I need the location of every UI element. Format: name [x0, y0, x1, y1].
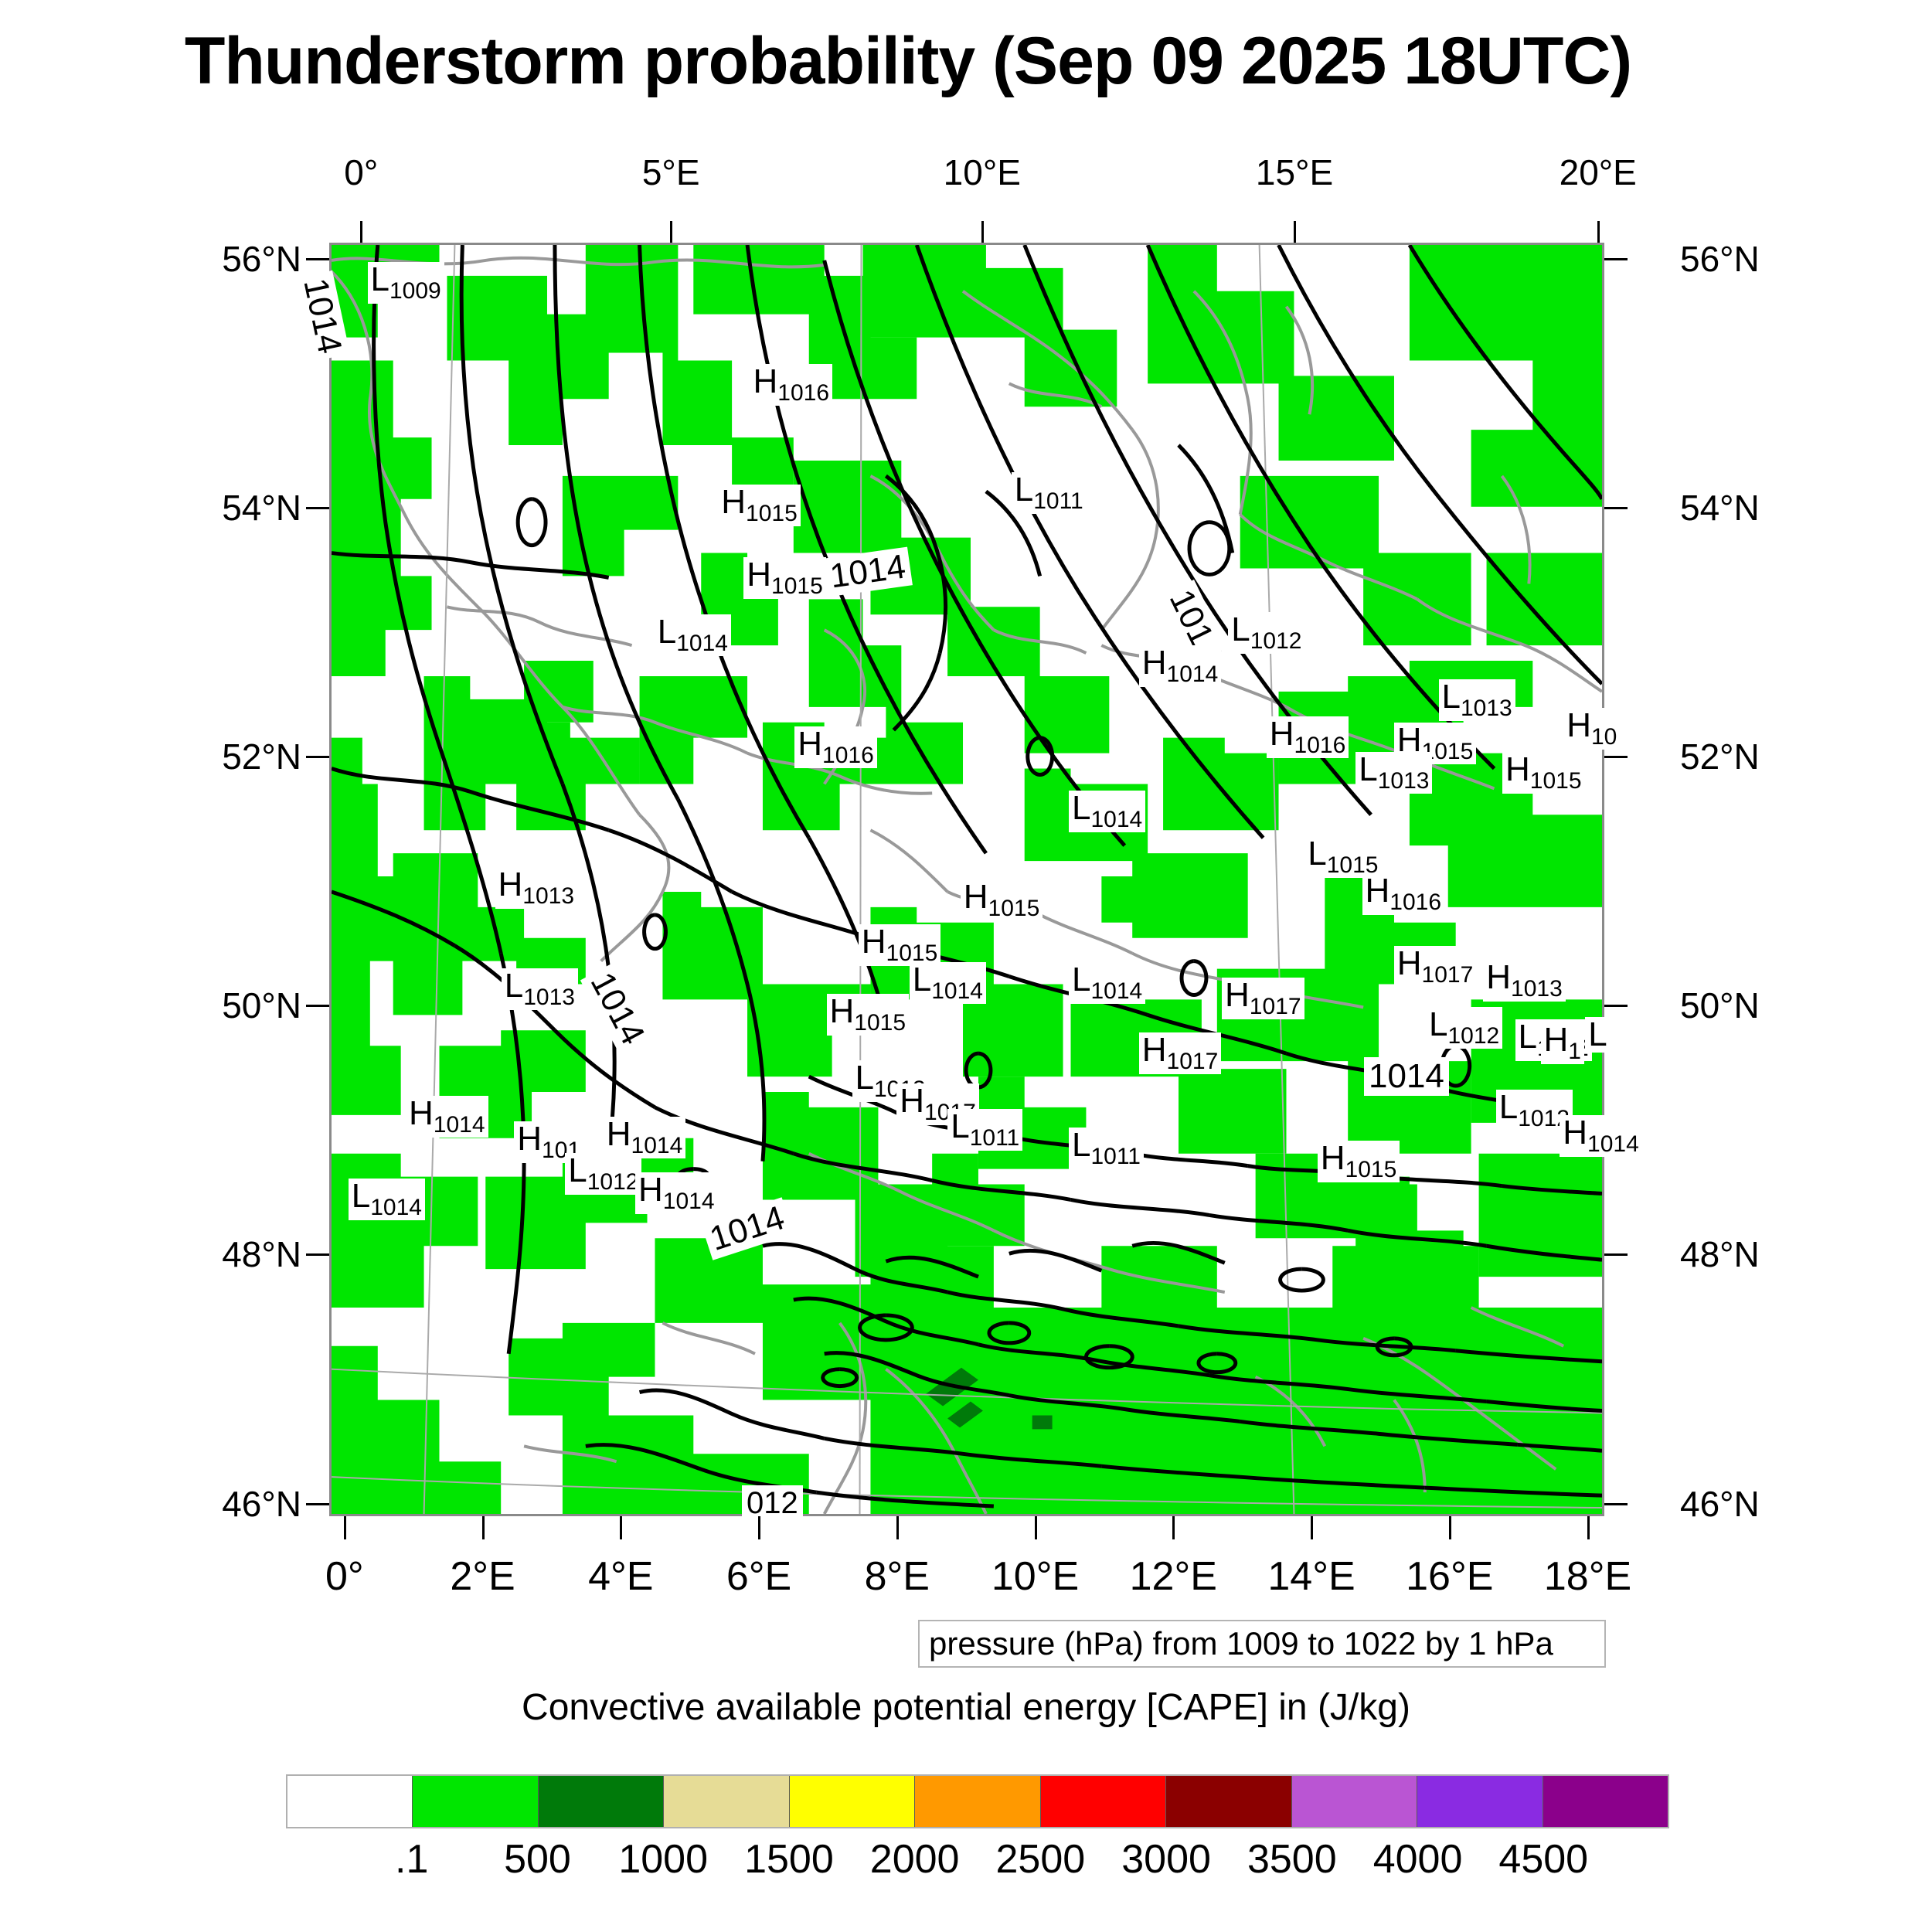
pressure-marker-l-24: L1014: [1069, 962, 1145, 1004]
top-axis-label-1: 5°E: [642, 151, 700, 193]
pressure-marker-l-14: L1014: [1069, 791, 1145, 832]
left-axis-label-5: 46°N: [162, 1483, 301, 1525]
right-tickmark-0: [1604, 258, 1628, 260]
bottom-tickmark-3: [758, 1516, 760, 1539]
colorbar-swatch-9[interactable]: [1417, 1776, 1542, 1827]
pressure-marker-type: H: [753, 362, 778, 400]
pressure-marker-l-27: L1012: [1426, 1007, 1502, 1049]
pressure-marker-l-41: L1014: [349, 1179, 425, 1220]
right-tickmark-4: [1604, 1253, 1628, 1256]
pressure-marker-type: H: [1505, 750, 1530, 788]
pressure-marker-value: 1015: [1345, 1157, 1397, 1182]
left-tickmark-4: [306, 1253, 329, 1256]
pressure-marker-type: L: [1442, 678, 1461, 716]
pressure-marker-type: H: [498, 866, 523, 903]
right-axis-label-5: 46°N: [1680, 1483, 1760, 1525]
bottom-tickmark-4: [896, 1516, 899, 1539]
pressure-marker-type: H: [517, 1120, 542, 1158]
pressure-marker-type: H: [1270, 715, 1294, 753]
pressure-marker-type: H: [1321, 1139, 1345, 1177]
pressure-marker-h-26: H1015: [827, 994, 910, 1036]
pressure-marker-value: 1012: [587, 1169, 639, 1195]
left-axis-label-0: 56°N: [162, 238, 301, 280]
pressure-marker-value: 1017: [1250, 994, 1301, 1019]
pressure-marker-h-10: H1016: [794, 726, 877, 768]
pressure-caption: pressure (hPa) from 1009 to 1022 by 1 hP…: [918, 1620, 1606, 1668]
right-tickmark-1: [1604, 507, 1628, 509]
pressure-marker-l-23: L1014: [910, 962, 986, 1004]
bottom-tickmark-9: [1587, 1516, 1590, 1539]
bottom-tickmark-8: [1449, 1516, 1451, 1539]
pressure-marker-type: H: [638, 1171, 663, 1209]
pressure-marker-type: L: [951, 1107, 969, 1145]
bottom-axis-label-6: 12°E: [1130, 1553, 1217, 1600]
colorbar-swatch-3[interactable]: [663, 1776, 788, 1827]
pressure-marker-value: 1016: [822, 743, 874, 768]
bottom-axis-label-2: 4°E: [588, 1553, 653, 1600]
cape-caption: Convective available potential energy [C…: [0, 1686, 1932, 1729]
pressure-marker-value: 1014: [931, 978, 983, 1004]
pressure-marker-type: L: [371, 260, 389, 298]
pressure-marker-h-13: H1015: [1502, 752, 1585, 794]
pressure-marker-type: L: [1072, 1126, 1090, 1164]
pressure-marker-value: 1009: [389, 278, 441, 304]
left-tickmark-2: [306, 756, 329, 758]
pressure-marker-type: L: [1072, 961, 1090, 998]
top-tickmark-3: [1294, 221, 1296, 243]
colorbar-tick-label-5: 2500: [996, 1836, 1086, 1883]
pressure-marker-l-32: L1011: [947, 1109, 1022, 1151]
pressure-marker-type: H: [607, 1115, 631, 1153]
pressure-marker-value: 1016: [777, 380, 829, 406]
cape-colorbar-ticks: .150010001500200025003000350040004500: [286, 1836, 1669, 1890]
pressure-marker-l-33: L1011: [1069, 1128, 1144, 1169]
pressure-marker-type: H: [1366, 872, 1390, 910]
colorbar-swatch-7[interactable]: [1165, 1776, 1291, 1827]
pressure-marker-value: 1012: [1250, 628, 1302, 654]
bottom-axis-label-5: 10°E: [992, 1553, 1079, 1600]
pressure-marker-h-18: H1015: [961, 879, 1043, 921]
pressure-marker-edge-0: H10: [1563, 708, 1620, 750]
pressure-marker-type: H: [1563, 1114, 1587, 1151]
pressure-marker-type: H: [721, 483, 746, 521]
pressure-marker-h-2: H1015: [718, 485, 801, 526]
pressure-marker-type: H: [830, 992, 855, 1030]
pressure-marker-type: L: [352, 1177, 370, 1215]
bottom-axis-label-4: 8°E: [865, 1553, 930, 1600]
pressure-marker-type: L: [855, 1059, 874, 1097]
pressure-marker-value: 1014: [434, 1112, 485, 1138]
pressure-marker-value: 1014: [1587, 1131, 1639, 1157]
pressure-marker-value: 1015: [771, 573, 823, 599]
colorbar-swatch-6[interactable]: [1040, 1776, 1165, 1827]
pressure-marker-l-40: L1012: [565, 1153, 641, 1195]
pressure-marker-type: L: [1499, 1088, 1518, 1126]
bottom-tickmark-7: [1311, 1516, 1313, 1539]
pressure-marker-edge-1: H1: [1541, 1022, 1584, 1064]
left-axis-label-1: 54°N: [162, 487, 301, 529]
thunderstorm-probability-chart: Thunderstorm probability (Sep 09 2025 18…: [0, 0, 1932, 1932]
colorbar-tick-label-1: 500: [504, 1836, 571, 1883]
right-axis-label-3: 50°N: [1680, 985, 1760, 1026]
pressure-marker-type: L: [1231, 611, 1250, 648]
left-axis-label-3: 50°N: [162, 985, 301, 1026]
pressure-marker-l-3: L1011: [1012, 472, 1087, 514]
pressure-marker-type: L: [1072, 789, 1090, 827]
left-tickmark-0: [306, 258, 329, 260]
pressure-marker-value: 1014: [1090, 978, 1142, 1004]
pressure-marker-l-0: L1009: [368, 262, 444, 304]
pressure-marker-l-6: L1012: [1228, 612, 1304, 654]
bottom-tickmark-6: [1172, 1516, 1175, 1539]
pressure-marker-type: L: [1308, 835, 1326, 872]
pressure-marker-type: L: [658, 613, 676, 651]
right-axis-label-4: 48°N: [1680, 1233, 1760, 1275]
pressure-marker-h-19: H1015: [859, 924, 941, 966]
pressure-marker-h-20: H1017: [1394, 946, 1477, 988]
pressure-marker-value: 1012: [1447, 1023, 1499, 1049]
top-tickmark-4: [1597, 221, 1600, 243]
pressure-marker-type: H: [409, 1094, 434, 1132]
pressure-marker-h-29: H1017: [1139, 1032, 1222, 1074]
pressure-marker-type: L: [913, 961, 931, 998]
colorbar-tick-label-7: 3500: [1247, 1836, 1337, 1883]
colorbar-swatch-8[interactable]: [1291, 1776, 1417, 1827]
contour-label-1014-se: 1014: [1364, 1057, 1449, 1096]
pressure-marker-value: 1014: [663, 1189, 715, 1214]
pressure-marker-type: L: [1015, 471, 1033, 509]
pressure-marker-type: H: [1397, 944, 1422, 982]
pressure-marker-h-15: H1013: [495, 867, 578, 909]
bottom-axis-label-1: 2°E: [450, 1553, 515, 1600]
pressure-marker-value: 1013: [523, 985, 575, 1010]
pressure-marker-type: H: [798, 725, 822, 763]
pressure-marker-edge-2: L: [1585, 1017, 1610, 1053]
pressure-marker-value: 1016: [1389, 889, 1441, 915]
right-tickmark-3: [1604, 1005, 1628, 1007]
right-axis-label-1: 54°N: [1680, 487, 1760, 529]
pressure-marker-l-8: L1013: [1439, 679, 1515, 721]
bottom-tickmark-1: [482, 1516, 485, 1539]
pressure-marker-h-21: H1013: [1483, 960, 1566, 1002]
pressure-marker-type: H: [1486, 958, 1511, 996]
bottom-axis-label-7: 14°E: [1267, 1553, 1355, 1600]
bottom-tickmark-0: [344, 1516, 346, 1539]
pressure-marker-l-5: L1014: [655, 614, 731, 656]
pressure-marker-value: 1011: [1090, 1144, 1141, 1169]
top-axis-label-3: 15°E: [1256, 151, 1333, 193]
right-tickmark-2: [1604, 756, 1628, 758]
right-axis-label-2: 52°N: [1680, 736, 1760, 777]
pressure-marker-value: 1013: [1511, 976, 1563, 1002]
pressure-marker-type: L: [1588, 1017, 1607, 1053]
pressure-marker-value: 1015: [988, 896, 1040, 921]
colorbar-swatch-5[interactable]: [914, 1776, 1039, 1827]
colorbar-tick-label-4: 2000: [870, 1836, 960, 1883]
pressure-marker-h-1: H1016: [750, 364, 833, 406]
pressure-marker-type: H: [1142, 1031, 1167, 1069]
colorbar-swatch-4[interactable]: [789, 1776, 914, 1827]
pressure-marker-h-37: H1014: [406, 1096, 488, 1138]
pressure-marker-type: H: [964, 878, 988, 916]
bottom-axis-label-3: 6°E: [726, 1553, 791, 1600]
colorbar-swatch-10[interactable]: [1543, 1776, 1668, 1827]
pressure-marker-h-39: H1014: [604, 1117, 686, 1158]
left-tickmark-1: [306, 507, 329, 509]
top-tickmark-2: [981, 221, 984, 243]
pressure-marker-value: 1013: [522, 883, 574, 909]
pressure-marker-type: H: [1225, 976, 1250, 1014]
pressure-marker-value: 1014: [1090, 807, 1142, 832]
pressure-marker-h-11: H1016: [1267, 716, 1349, 758]
pressure-marker-value: 1014: [370, 1195, 422, 1220]
pressure-marker-type: H: [1544, 1022, 1569, 1059]
top-tickmark-1: [670, 221, 672, 243]
pressure-marker-value: 1014: [1167, 662, 1219, 687]
pressure-marker-type: H: [1566, 708, 1591, 744]
pressure-marker-value: 1017: [1422, 962, 1474, 988]
top-axis-label-4: 20°E: [1560, 151, 1637, 193]
pressure-marker-value: 1015: [1530, 768, 1582, 794]
left-tickmark-5: [306, 1503, 329, 1505]
top-axis-label-0: 0°: [344, 151, 378, 193]
pressure-marker-value: 1016: [1294, 733, 1346, 758]
pressure-marker-value: 1015: [854, 1010, 906, 1036]
pressure-marker-type: L: [1519, 1018, 1537, 1056]
pressure-marker-type: L: [505, 967, 523, 1005]
left-axis-label-2: 52°N: [162, 736, 301, 777]
pressure-marker-type: L: [1359, 750, 1377, 788]
pressure-marker-l-12: L1013: [1355, 752, 1432, 794]
page-title: Thunderstorm probability (Sep 09 2025 18…: [0, 23, 1816, 100]
pressure-marker-type: H: [862, 923, 886, 961]
pressure-marker-value: 10: [1591, 724, 1617, 750]
bottom-axis-label-0: 0°: [325, 1553, 364, 1600]
colorbar-tick-label-2: 1000: [618, 1836, 708, 1883]
colorbar-swatch-1[interactable]: [412, 1776, 537, 1827]
colorbar-tick-label-3: 1500: [744, 1836, 834, 1883]
pressure-marker-h-42: H1014: [635, 1172, 718, 1214]
pressure-marker-value: 1011: [1033, 488, 1083, 514]
cape-colorbar[interactable]: [286, 1774, 1669, 1828]
bottom-axis-label-8: 16°E: [1406, 1553, 1493, 1600]
pressure-marker-type: L: [1429, 1005, 1447, 1043]
pressure-marker-h-35: H1014: [1560, 1115, 1642, 1157]
pressure-marker-h-7: H1014: [1139, 645, 1222, 687]
bottom-tickmark-5: [1035, 1516, 1037, 1539]
bottom-axis-label-9: 18°E: [1544, 1553, 1631, 1600]
pressure-marker-value: 1014: [676, 631, 728, 656]
colorbar-tick-label-9: 4500: [1498, 1836, 1588, 1883]
contour-label-fragment-012: 012: [742, 1485, 803, 1521]
pressure-marker-value: 1013: [1378, 768, 1430, 794]
top-axis-label-2: 10°E: [944, 151, 1021, 193]
left-axis-label-4: 48°N: [162, 1233, 301, 1275]
pressure-marker-h-4: H1015: [743, 557, 826, 599]
pressure-marker-value: 1015: [746, 501, 798, 526]
pressure-marker-h-17: H1016: [1362, 873, 1445, 915]
pressure-marker-h-25: H1017: [1222, 978, 1304, 1019]
bottom-tickmark-2: [620, 1516, 622, 1539]
pressure-marker-value: 1017: [1167, 1049, 1219, 1074]
pressure-marker-value: 1013: [1461, 696, 1512, 721]
colorbar-swatch-0[interactable]: [287, 1776, 412, 1827]
left-tickmark-3: [306, 1005, 329, 1007]
right-tickmark-5: [1604, 1503, 1628, 1505]
pressure-marker-l-22: L1013: [502, 968, 578, 1010]
colorbar-tick-label-6: 3000: [1121, 1836, 1211, 1883]
right-axis-label-0: 56°N: [1680, 238, 1760, 280]
pressure-marker-value: 1: [1568, 1039, 1581, 1064]
colorbar-tick-label-8: 4000: [1373, 1836, 1463, 1883]
pressure-marker-value: 1011: [970, 1125, 1020, 1151]
top-tickmark-0: [360, 221, 362, 243]
pressure-marker-type: H: [747, 556, 771, 594]
colorbar-tick-label-0: .1: [395, 1836, 428, 1883]
pressure-marker-type: L: [568, 1151, 587, 1189]
pressure-marker-h-36: H1015: [1318, 1141, 1400, 1182]
colorbar-swatch-2[interactable]: [538, 1776, 663, 1827]
pressure-marker-type: H: [900, 1082, 924, 1120]
pressure-marker-type: H: [1142, 644, 1167, 682]
